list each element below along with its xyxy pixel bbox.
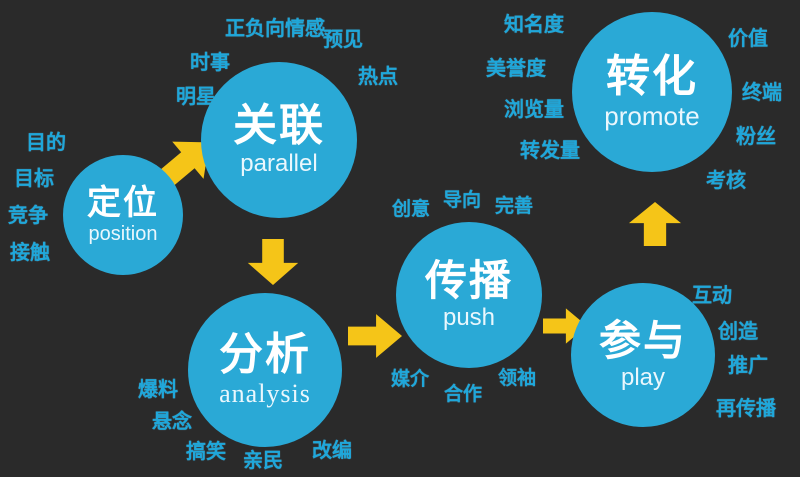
node-promote[interactable]: 转化promote <box>572 12 732 172</box>
keyword-kw-jiazhi: 价值 <box>728 22 768 51</box>
keyword-kw-xuannian: 悬念 <box>152 405 192 434</box>
keyword-kw-wanshan: 完善 <box>495 191 533 218</box>
node-label-cn: 定位 <box>87 186 159 220</box>
keyword-kw-zhimingdu: 知名度 <box>504 8 564 37</box>
node-push[interactable]: 传播push <box>396 222 542 368</box>
keyword-kw-qinmin: 亲民 <box>243 444 283 473</box>
keyword-kw-redian: 热点 <box>358 60 398 89</box>
keyword-kw-zhuanfaliang: 转发量 <box>520 134 580 163</box>
arrow-play-to-promote <box>624 202 686 246</box>
keyword-kw-chuangzao: 创造 <box>718 315 758 344</box>
keyword-kw-daoxiang: 导向 <box>443 185 481 212</box>
node-label-cn: 分析 <box>219 333 311 377</box>
keyword-kw-jiechu: 接触 <box>10 236 50 265</box>
arrow-analysis-to-push <box>348 310 402 362</box>
keyword-kw-yujian: 预见 <box>323 23 363 52</box>
keyword-kw-shishi: 时事 <box>190 46 230 75</box>
keyword-kw-fensi: 粉丝 <box>736 120 776 149</box>
node-label-en: position <box>89 224 158 244</box>
node-play[interactable]: 参与play <box>571 283 715 427</box>
node-label-en: parallel <box>240 152 317 176</box>
node-label-en: push <box>443 306 495 330</box>
node-parallel[interactable]: 关联parallel <box>201 62 357 218</box>
node-label-cn: 参与 <box>599 320 687 362</box>
keyword-kw-zhengfuxiang: 正负向情感 <box>225 12 325 41</box>
marketing-flow-diagram: 定位position关联parallel分析analysis传播push参与pl… <box>0 0 800 477</box>
keyword-kw-meijie: 媒介 <box>391 364 429 391</box>
keyword-kw-gaibian: 改编 <box>312 434 352 463</box>
keyword-kw-mudi: 目的 <box>26 126 66 155</box>
keyword-kw-hezuo: 合作 <box>444 379 482 406</box>
keyword-kw-lingxiu: 领袖 <box>498 363 536 390</box>
keyword-kw-tuiguang: 推广 <box>728 349 768 378</box>
arrow-parallel-to-analysis <box>243 239 303 285</box>
node-label-cn: 关联 <box>233 104 325 148</box>
node-label-en: promote <box>604 103 699 129</box>
keyword-kw-zaichuanbo: 再传播 <box>716 392 776 421</box>
keyword-kw-mubiao: 目标 <box>14 162 54 191</box>
keyword-kw-jingzheng: 竞争 <box>8 199 48 228</box>
node-label-en: play <box>621 366 665 390</box>
keyword-kw-gaoxiao: 搞笑 <box>186 435 226 464</box>
keyword-kw-meiyudu: 美誉度 <box>486 52 546 81</box>
node-label-en: analysis <box>219 381 311 407</box>
keyword-kw-kaohe: 考核 <box>706 164 746 193</box>
node-label-cn: 转化 <box>606 55 698 99</box>
keyword-kw-liulanliang: 浏览量 <box>504 93 564 122</box>
keyword-kw-chuangyi: 创意 <box>392 194 430 221</box>
keyword-kw-baoliao: 爆料 <box>138 373 178 402</box>
keyword-kw-zhongduan: 终端 <box>742 76 782 105</box>
node-position[interactable]: 定位position <box>63 155 183 275</box>
keyword-kw-hudong: 互动 <box>692 279 732 308</box>
node-analysis[interactable]: 分析analysis <box>188 293 342 447</box>
node-label-cn: 传播 <box>425 260 513 302</box>
